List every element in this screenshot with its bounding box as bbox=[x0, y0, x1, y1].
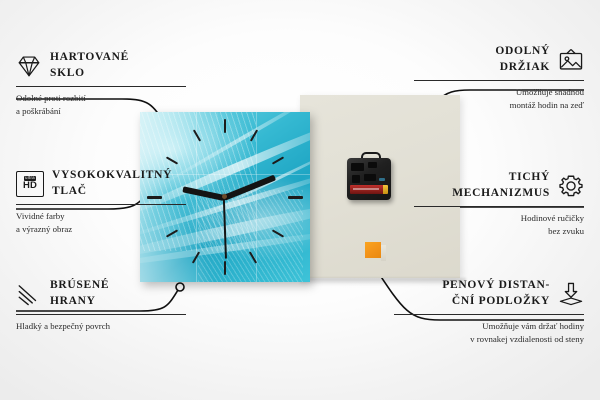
diamond-icon bbox=[16, 53, 42, 79]
product-photo bbox=[140, 95, 460, 290]
beveled-edges-icon bbox=[16, 281, 42, 307]
feature-description: Umožňuje vám držať hodiny v rovnakej vzd… bbox=[394, 320, 584, 346]
glass-seam bbox=[256, 112, 257, 282]
ultra-hd-icon: ultra HD bbox=[16, 171, 44, 197]
feature-description: Odolné proti rozbití a poškrábání bbox=[16, 92, 186, 118]
divider bbox=[16, 86, 186, 87]
feature-title: PENOVÝ DISTAN- ČNÍ PODLOŽKY bbox=[442, 278, 550, 309]
divider bbox=[394, 314, 584, 315]
clock-tick bbox=[224, 261, 226, 275]
mechanism-battery bbox=[350, 185, 385, 194]
feature-silent-mechanism: TICHÝ MECHANIZMUS Hodinové ručičky bez z… bbox=[414, 170, 584, 238]
feature-hardened-glass: HARTOVANÉ SKLO Odolné proti rozbití a po… bbox=[16, 50, 186, 118]
feature-foam-spacers: PENOVÝ DISTAN- ČNÍ PODLOŽKY Umožňuje vám… bbox=[394, 278, 584, 346]
feature-high-quality-print: ultra HD VYSOKOKVALITNÝ TLAČ Vividné far… bbox=[16, 168, 186, 236]
feature-description: Hladký a bezpečný povrch bbox=[16, 320, 186, 333]
feature-title: ODOLNÝ DRŽIAK bbox=[495, 44, 550, 75]
foam-spacer-icon bbox=[558, 281, 584, 307]
hd-label: HD bbox=[23, 181, 37, 191]
feature-description: Hodinové ručičky bez zvuku bbox=[414, 212, 584, 238]
clock-tick bbox=[272, 156, 284, 164]
clock-tick bbox=[224, 119, 226, 133]
picture-frame-icon bbox=[558, 47, 584, 73]
feature-durable-holder: ODOLNÝ DRŽIAK Umožňuje snadnou montáž ho… bbox=[414, 44, 584, 112]
divider bbox=[414, 80, 584, 81]
feature-title: VYSOKOKVALITNÝ TLAČ bbox=[52, 168, 172, 199]
feature-title: HARTOVANÉ SKLO bbox=[50, 50, 129, 81]
divider bbox=[16, 314, 186, 315]
gear-icon bbox=[558, 173, 584, 199]
feature-title: BRÚSENÉ HRANY bbox=[50, 278, 109, 309]
feature-description: Umožňuje snadnou montáž hodin na zeď bbox=[414, 86, 584, 112]
divider bbox=[16, 204, 186, 205]
clock-center-hub bbox=[222, 194, 227, 199]
foam-pad-shadow bbox=[381, 245, 386, 261]
feature-title: TICHÝ MECHANIZMUS bbox=[452, 170, 550, 201]
feature-description: Vividné farby a výrazný obraz bbox=[16, 210, 186, 236]
infographic-canvas: HARTOVANÉ SKLO Odolné proti rozbití a po… bbox=[0, 0, 600, 400]
battery-positive-cap bbox=[383, 185, 388, 194]
foam-spacer-pad bbox=[365, 242, 381, 258]
feature-beveled-edges: BRÚSENÉ HRANY Hladký a bezpečný povrch bbox=[16, 278, 186, 333]
divider bbox=[414, 206, 584, 207]
clock-tick bbox=[288, 196, 303, 199]
